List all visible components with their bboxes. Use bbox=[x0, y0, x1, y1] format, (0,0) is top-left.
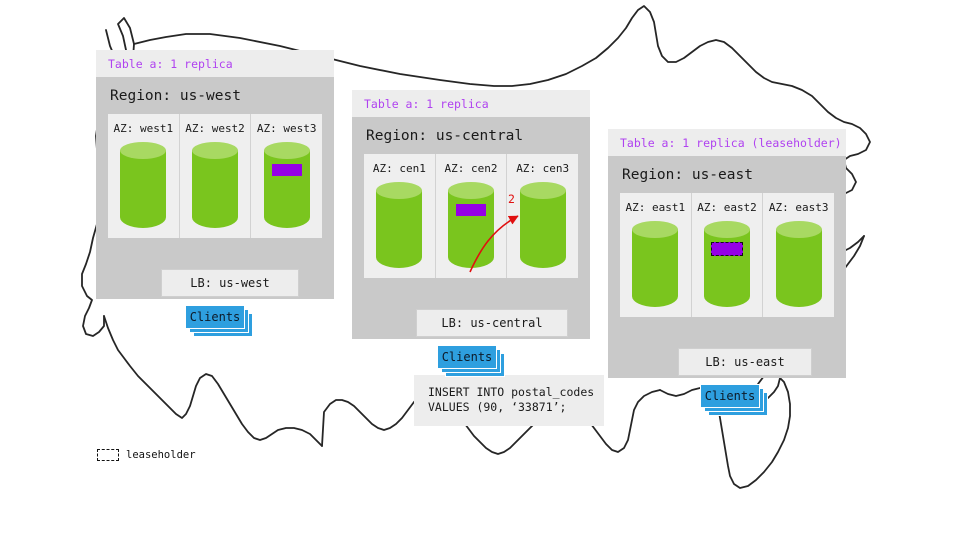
region-title-us-central: Region: us-central bbox=[352, 117, 590, 154]
az-row-us-west: AZ: west1 AZ: west2 bbox=[108, 114, 322, 238]
cylinder-top-east1 bbox=[632, 221, 678, 238]
node-cen2[interactable] bbox=[436, 182, 507, 268]
az-cell-east2[interactable]: AZ: east2 bbox=[692, 193, 764, 317]
az-cell-west2[interactable]: AZ: west2 bbox=[180, 114, 252, 238]
cylinder-body-cen3 bbox=[520, 190, 566, 268]
az-label-cen3: AZ: cen3 bbox=[507, 162, 578, 175]
region-panel-us-central: Table a: 1 replica Region: us-central AZ… bbox=[352, 90, 590, 339]
az-cell-east1[interactable]: AZ: east1 bbox=[620, 193, 692, 317]
az-row-us-east: AZ: east1 AZ: east2 bbox=[620, 193, 834, 317]
az-cell-west3[interactable]: AZ: west3 bbox=[251, 114, 322, 238]
diagram-canvas: Table a: 1 replica Region: us-west AZ: w… bbox=[0, 0, 960, 540]
cylinder-top-cen2 bbox=[448, 182, 494, 199]
clients-us-west[interactable]: Clients bbox=[185, 305, 249, 335]
table-replica-label-us-west: Table a: 1 replica bbox=[96, 50, 334, 77]
leaseholder-swatch-icon bbox=[97, 449, 119, 461]
node-cen1[interactable] bbox=[364, 182, 435, 268]
legend-label: leaseholder bbox=[126, 449, 196, 461]
az-cell-cen3[interactable]: AZ: cen3 bbox=[507, 154, 578, 278]
clients-button-us-east[interactable]: Clients bbox=[700, 384, 760, 408]
cylinder-top-cen3 bbox=[520, 182, 566, 199]
cylinder-top-west1 bbox=[120, 142, 166, 159]
node-cen3[interactable] bbox=[507, 182, 578, 268]
az-cell-cen2[interactable]: AZ: cen2 bbox=[436, 154, 508, 278]
cylinder-body-west3 bbox=[264, 150, 310, 228]
az-row-us-central: AZ: cen1 AZ: cen2 bbox=[364, 154, 578, 278]
az-label-west3: AZ: west3 bbox=[251, 122, 322, 135]
node-east2[interactable] bbox=[692, 221, 763, 307]
az-label-cen2: AZ: cen2 bbox=[436, 162, 507, 175]
clients-button-us-west[interactable]: Clients bbox=[185, 305, 245, 329]
cylinder-body-west1 bbox=[120, 150, 166, 228]
range-replica-leaseholder-east2[interactable] bbox=[711, 242, 743, 256]
load-balancer-us-east[interactable]: LB: us-east bbox=[678, 348, 812, 376]
cylinder-top-west2 bbox=[192, 142, 238, 159]
range-replica-cen2[interactable] bbox=[456, 204, 486, 216]
load-balancer-us-central[interactable]: LB: us-central bbox=[416, 309, 568, 337]
az-label-west2: AZ: west2 bbox=[180, 122, 251, 135]
arrow-label-2: 2 bbox=[508, 192, 515, 206]
cylinder-top-east2 bbox=[704, 221, 750, 238]
table-replica-label-us-east: Table a: 1 replica (leaseholder) bbox=[608, 129, 846, 156]
cylinder-body-west2 bbox=[192, 150, 238, 228]
az-label-east2: AZ: east2 bbox=[692, 201, 763, 214]
load-balancer-us-west[interactable]: LB: us-west bbox=[161, 269, 299, 297]
az-label-west1: AZ: west1 bbox=[108, 122, 179, 135]
region-title-us-east: Region: us-east bbox=[608, 156, 846, 193]
cylinder-body-east1 bbox=[632, 229, 678, 307]
legend-leaseholder: leaseholder bbox=[97, 449, 196, 461]
range-replica-west3[interactable] bbox=[272, 164, 302, 176]
az-label-cen1: AZ: cen1 bbox=[364, 162, 435, 175]
clients-us-central[interactable]: Clients bbox=[437, 345, 501, 375]
node-west2[interactable] bbox=[180, 142, 251, 228]
sql-statement-note: INSERT INTO postal_codes VALUES (90, ‘33… bbox=[414, 375, 604, 426]
node-east3[interactable] bbox=[763, 221, 834, 307]
clients-us-east[interactable]: Clients bbox=[700, 384, 764, 414]
cylinder-top-west3 bbox=[264, 142, 310, 159]
az-cell-east3[interactable]: AZ: east3 bbox=[763, 193, 834, 317]
az-cell-west1[interactable]: AZ: west1 bbox=[108, 114, 180, 238]
node-west1[interactable] bbox=[108, 142, 179, 228]
node-west3[interactable] bbox=[251, 142, 322, 228]
cylinder-top-east3 bbox=[776, 221, 822, 238]
cylinder-body-cen1 bbox=[376, 190, 422, 268]
az-cell-cen1[interactable]: AZ: cen1 bbox=[364, 154, 436, 278]
cylinder-top-cen1 bbox=[376, 182, 422, 199]
az-label-east1: AZ: east1 bbox=[620, 201, 691, 214]
table-replica-label-us-central: Table a: 1 replica bbox=[352, 90, 590, 117]
cylinder-body-cen2 bbox=[448, 190, 494, 268]
cylinder-body-east2 bbox=[704, 229, 750, 307]
region-panel-us-east: Table a: 1 replica (leaseholder) Region:… bbox=[608, 129, 846, 378]
node-east1[interactable] bbox=[620, 221, 691, 307]
clients-button-us-central[interactable]: Clients bbox=[437, 345, 497, 369]
cylinder-body-east3 bbox=[776, 229, 822, 307]
region-panel-us-west: Table a: 1 replica Region: us-west AZ: w… bbox=[96, 50, 334, 299]
region-title-us-west: Region: us-west bbox=[96, 77, 334, 114]
az-label-east3: AZ: east3 bbox=[763, 201, 834, 214]
